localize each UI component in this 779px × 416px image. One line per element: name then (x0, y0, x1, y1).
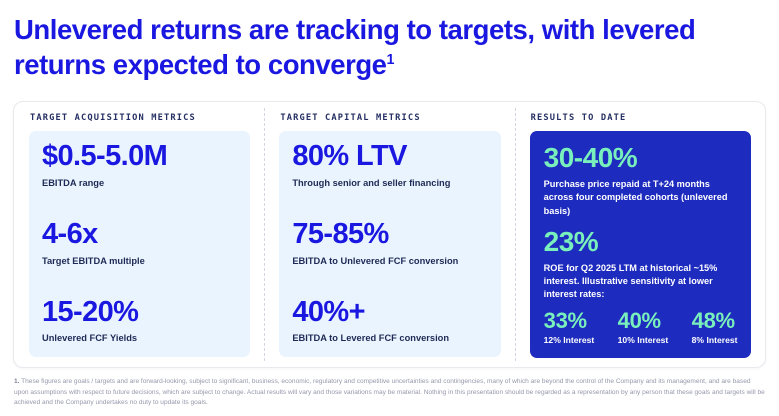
footnote: 1. These figures are goals / targets and… (14, 377, 765, 409)
metric-value: 75-85% (292, 220, 486, 250)
column-results-to-date: RESULTS TO DATE 30-40% Purchase price re… (515, 102, 765, 367)
metric-label: Unlevered FCF Yields (42, 332, 236, 345)
sensitivity-value: 33% (544, 309, 606, 332)
sensitivity-item: 33% 12% Interest (544, 309, 606, 346)
footnote-marker: 1. (14, 378, 19, 385)
metric-label: EBITDA to Levered FCF conversion (292, 332, 486, 345)
metric-value: 40%+ (292, 298, 486, 328)
metric-item: 80% LTV Through senior and seller financ… (292, 142, 486, 189)
footnote-text: These figures are goals / targets and ar… (14, 378, 765, 406)
sensitivity-label: 10% Interest (618, 335, 680, 346)
metric-value: 4-6x (42, 220, 236, 250)
metric-item: 40%+ EBITDA to Levered FCF conversion (292, 298, 486, 345)
metric-item: 23% ROE for Q2 2025 LTM at historical ~1… (544, 227, 737, 302)
page-title: Unlevered returns are tracking to target… (0, 0, 779, 82)
page-title-text: Unlevered returns are tracking to target… (14, 14, 695, 80)
metric-note: Purchase price repaid at T+24 months acr… (544, 178, 737, 217)
metric-item: 30-40% Purchase price repaid at T+24 mon… (544, 143, 737, 218)
metric-label: Target EBITDA multiple (42, 255, 236, 268)
sensitivity-label: 8% Interest (692, 335, 754, 346)
metric-value: 80% LTV (292, 142, 486, 172)
column-target-capital-metrics: TARGET CAPITAL METRICS 80% LTV Through s… (264, 102, 514, 367)
metric-value: 15-20% (42, 298, 236, 328)
column-header: RESULTS TO DATE (531, 113, 751, 123)
metric-value: $0.5-5.0M (42, 142, 236, 172)
metric-value: 23% (544, 227, 737, 256)
sensitivity-item: 48% 8% Interest (692, 309, 754, 346)
metric-note: ROE for Q2 2025 LTM at historical ~15% i… (544, 262, 737, 301)
metric-value: 30-40% (544, 143, 737, 172)
sensitivity-item: 40% 10% Interest (618, 309, 680, 346)
sensitivity-label: 12% Interest (544, 335, 606, 346)
page-title-footnote-marker: 1 (387, 52, 395, 68)
column-header: TARGET ACQUISITION METRICS (30, 113, 250, 123)
metric-item: 75-85% EBITDA to Unlevered FCF conversio… (292, 220, 486, 267)
column-header: TARGET CAPITAL METRICS (280, 113, 500, 123)
sensitivity-row: 33% 12% Interest 40% 10% Interest 48% 8%… (544, 301, 737, 346)
slide: Unlevered returns are tracking to target… (0, 0, 779, 416)
metric-card-dark: 30-40% Purchase price repaid at T+24 mon… (530, 131, 751, 358)
metrics-panel: TARGET ACQUISITION METRICS $0.5-5.0M EBI… (13, 101, 766, 368)
metric-card-light: 80% LTV Through senior and seller financ… (279, 131, 500, 357)
metric-card-light: $0.5-5.0M EBITDA range 4-6x Target EBITD… (29, 131, 250, 357)
sensitivity-value: 48% (692, 309, 754, 332)
metric-item: 15-20% Unlevered FCF Yields (42, 298, 236, 345)
column-target-acquisition-metrics: TARGET ACQUISITION METRICS $0.5-5.0M EBI… (14, 102, 264, 367)
sensitivity-value: 40% (618, 309, 680, 332)
metric-item: $0.5-5.0M EBITDA range (42, 142, 236, 189)
metric-item: 4-6x Target EBITDA multiple (42, 220, 236, 267)
metric-label: Through senior and seller financing (292, 177, 486, 190)
metric-label: EBITDA to Unlevered FCF conversion (292, 255, 486, 268)
metric-label: EBITDA range (42, 177, 236, 190)
